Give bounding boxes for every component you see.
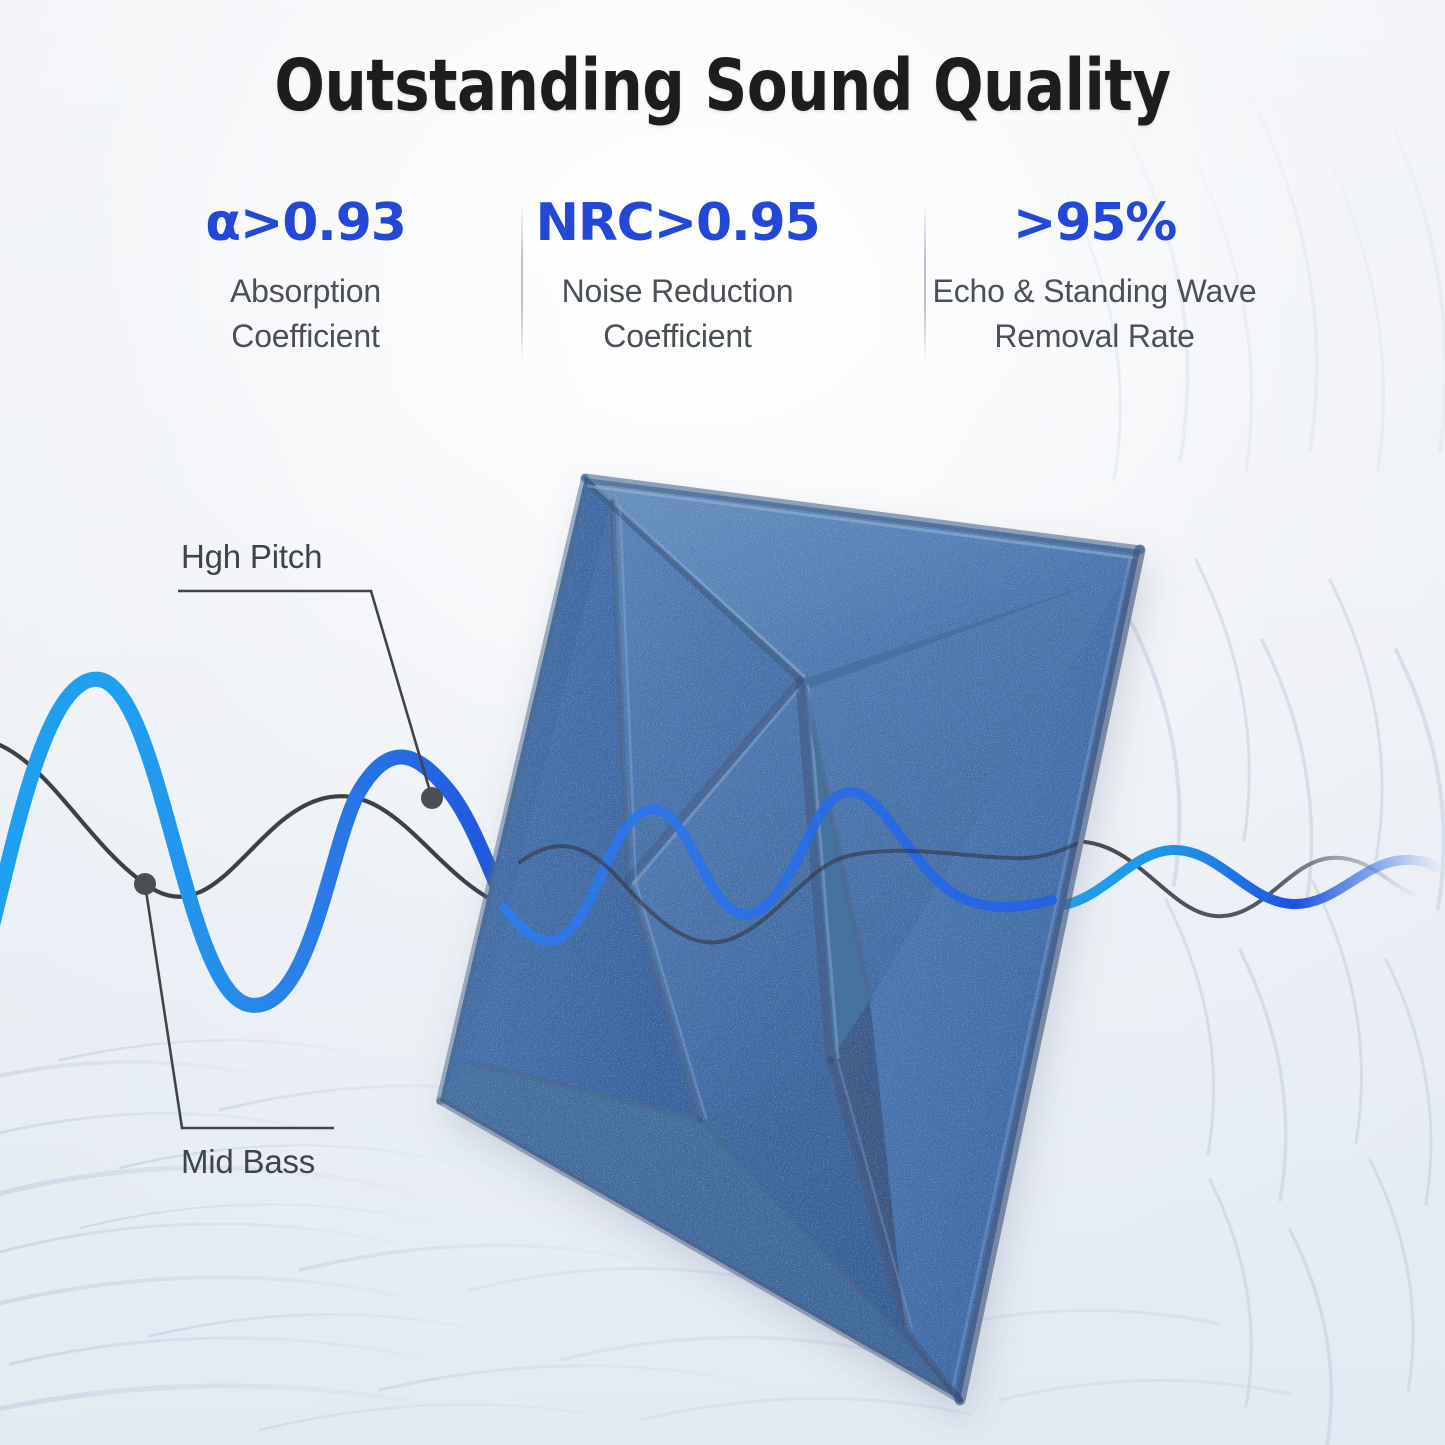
- stat-label-echo: Echo & Standing Wave Removal Rate: [901, 269, 1289, 359]
- stat-label-line2: Coefficient: [603, 318, 751, 354]
- stat-echo-removal-rate: >95% Echo & Standing Wave Removal Rate: [875, 196, 1315, 359]
- stat-label-nrc: Noise Reduction Coefficient: [507, 269, 849, 359]
- stat-value-absorption: α>0.93: [157, 196, 455, 251]
- stats-row: α>0.93 Absorption Coefficient NRC>0.95 N…: [0, 196, 1445, 359]
- callout-label-high-pitch: Hgh Pitch: [181, 538, 322, 576]
- callout-label-mid-bass: Mid Bass: [181, 1143, 315, 1181]
- stat-label-line1: Echo & Standing Wave: [933, 273, 1257, 309]
- stat-divider-2: [924, 204, 926, 362]
- stat-label-line2: Removal Rate: [994, 318, 1194, 354]
- stat-value-nrc: NRC>0.95: [507, 196, 849, 251]
- stat-divider-1: [521, 204, 523, 362]
- stat-label-line1: Absorption: [230, 273, 381, 309]
- callout-dot-high-pitch: [421, 787, 443, 809]
- product-feature-banner: Outstanding Sound Quality α>0.93 Absorpt…: [0, 0, 1445, 1445]
- stat-label-absorption: Absorption Coefficient: [157, 269, 455, 359]
- stat-value-echo: >95%: [901, 196, 1289, 251]
- stat-absorption-coefficient: α>0.93 Absorption Coefficient: [131, 196, 481, 359]
- callout-leader-high-pitch: [178, 591, 432, 798]
- page-title: Outstanding Sound Quality: [51, 44, 1395, 127]
- callout-dot-mid-bass: [134, 873, 156, 895]
- stat-label-line1: Noise Reduction: [562, 273, 794, 309]
- stat-noise-reduction-coefficient: NRC>0.95 Noise Reduction Coefficient: [481, 196, 875, 359]
- stat-label-line2: Coefficient: [231, 318, 379, 354]
- header: Outstanding Sound Quality: [0, 0, 1445, 127]
- callout-leader-mid-bass: [145, 884, 334, 1128]
